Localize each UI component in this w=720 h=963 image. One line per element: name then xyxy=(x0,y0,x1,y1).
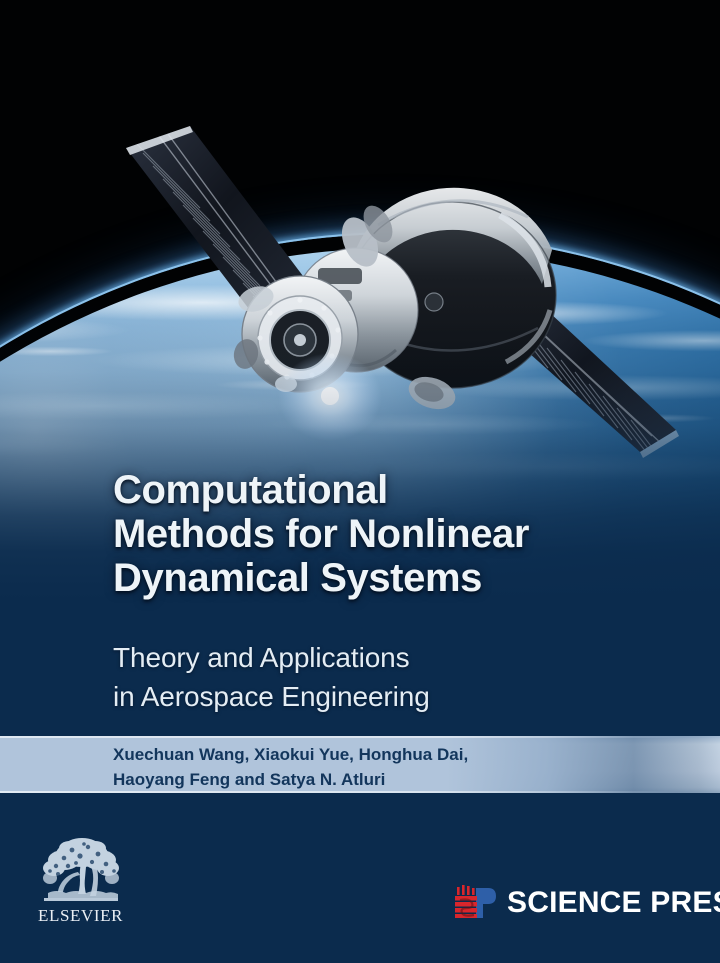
author-line-1: Xuechuan Wang, Xiaokui Yue, Honghua Dai, xyxy=(113,742,673,767)
title-line-1: Computational xyxy=(113,468,673,512)
elsevier-logo: ELSEVIER xyxy=(38,838,130,925)
subtitle-line-1: Theory and Applications xyxy=(113,638,673,677)
book-cover: Computational Methods for Nonlinear Dyna… xyxy=(0,0,720,963)
science-press-logo: SCIENCE PRESS xyxy=(452,884,720,922)
science-press-sp-icon xyxy=(452,884,498,922)
elsevier-wordmark: ELSEVIER xyxy=(38,906,130,925)
elsevier-tree-icon xyxy=(38,838,124,904)
title-line-2: Methods for Nonlinear xyxy=(113,512,673,556)
title-line-3: Dynamical Systems xyxy=(113,556,673,600)
author-line-2: Haoyang Feng and Satya N. Atluri xyxy=(113,767,673,792)
book-authors: Xuechuan Wang, Xiaokui Yue, Honghua Dai,… xyxy=(113,742,673,792)
author-band-top-divider xyxy=(0,736,720,738)
book-title: Computational Methods for Nonlinear Dyna… xyxy=(113,468,673,600)
subtitle-line-2: in Aerospace Engineering xyxy=(113,677,673,716)
science-press-wordmark: SCIENCE PRESS xyxy=(507,888,720,918)
book-subtitle: Theory and Applications in Aerospace Eng… xyxy=(113,638,673,716)
